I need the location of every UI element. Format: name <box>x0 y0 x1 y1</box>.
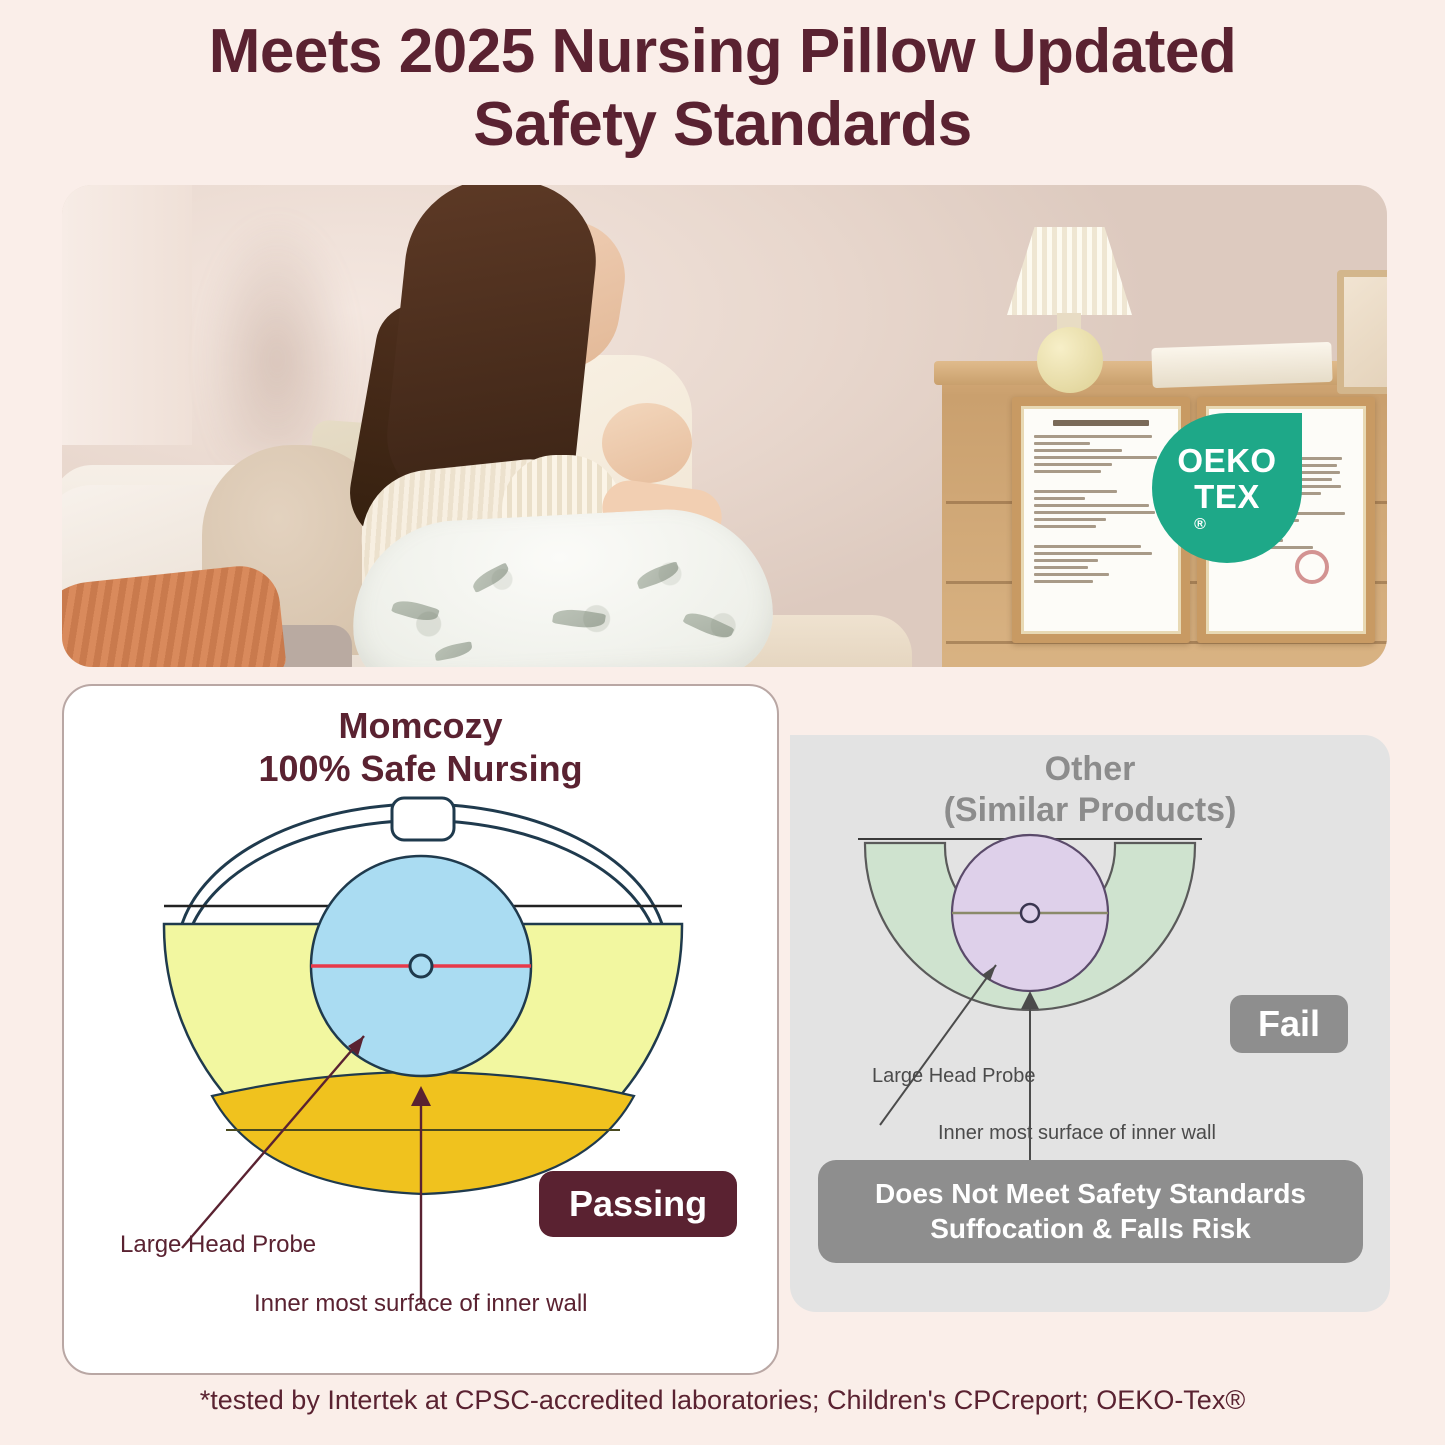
fail-badge: Fail <box>1230 995 1348 1053</box>
oeko-tex-badge: OEKO TEX® <box>1152 413 1302 563</box>
photo-open-book <box>1151 342 1332 388</box>
passing-badge: Passing <box>539 1171 737 1237</box>
footer-disclaimer: *tested by Intertek at CPSC-accredited l… <box>0 1385 1445 1416</box>
safety-warning-line-2: Suffocation & Falls Risk <box>828 1211 1353 1246</box>
other-panel-title: Other (Similar Products) <box>790 749 1390 831</box>
momcozy-probe-center-point <box>410 955 432 977</box>
pillow-leaf-motif <box>682 608 734 644</box>
pillow-leaf-motif <box>434 641 474 661</box>
photo-wall-art-canvas <box>1344 277 1387 387</box>
momcozy-label-large-head-probe: Large Head Probe <box>120 1231 316 1259</box>
pillow-leaf-motif <box>552 606 606 631</box>
safety-warning-note: Does Not Meet Safety Standards Suffocati… <box>818 1160 1363 1263</box>
other-label-large-head-probe: Large Head Probe <box>872 1065 1035 1088</box>
certificate-cpc-heading <box>1053 420 1149 426</box>
momcozy-label-inner-wall: Inner most surface of inner wall <box>254 1290 587 1318</box>
momcozy-strap-buckle <box>392 798 454 840</box>
title-line-2: Safety Standards <box>0 89 1445 162</box>
momcozy-panel-title: Momcozy 100% Safe Nursing <box>64 704 777 790</box>
photo-wall-shadow <box>202 215 352 455</box>
hero-photo: OEKO TEX® <box>62 185 1387 667</box>
momcozy-brand-label: Momcozy <box>64 704 777 747</box>
other-label-inner-wall: Inner most surface of inner wall <box>938 1122 1216 1145</box>
safety-warning-line-1: Does Not Meet Safety Standards <box>828 1176 1353 1211</box>
pillow-leaf-motif <box>470 562 512 593</box>
momcozy-subtitle-label: 100% Safe Nursing <box>64 747 777 790</box>
certificate-cpc-page <box>1021 406 1181 634</box>
photo-baby-head <box>602 403 692 483</box>
pillow-leaf-motif <box>391 596 440 625</box>
other-brand-label: Other <box>790 749 1390 790</box>
title-line-1: Meets 2025 Nursing Pillow Updated <box>0 16 1445 89</box>
photo-wall-art-frame <box>1337 270 1387 394</box>
other-probe-leader-line <box>880 965 996 1125</box>
oeko-line-2: TEX <box>1194 479 1260 515</box>
oeko-registered-mark: ® <box>1194 516 1260 534</box>
photo-wall-corner <box>62 185 192 445</box>
photo-lamp-base <box>1037 327 1103 393</box>
comparison-panel-other: Other (Similar Products) Large Head Prob… <box>790 735 1390 1312</box>
infographic-root: Meets 2025 Nursing Pillow Updated Safety… <box>0 0 1445 1445</box>
page-title: Meets 2025 Nursing Pillow Updated Safety… <box>0 16 1445 161</box>
oeko-line-1: OEKO <box>1177 443 1276 479</box>
pillow-leaf-motif <box>635 561 681 590</box>
comparison-panel-momcozy: Momcozy 100% Safe Nursing <box>62 684 779 1375</box>
other-probe-center-point <box>1021 904 1039 922</box>
oeko-line-2-wrap: TEX® <box>1194 479 1260 533</box>
certificate-seal-stamp <box>1295 550 1329 584</box>
